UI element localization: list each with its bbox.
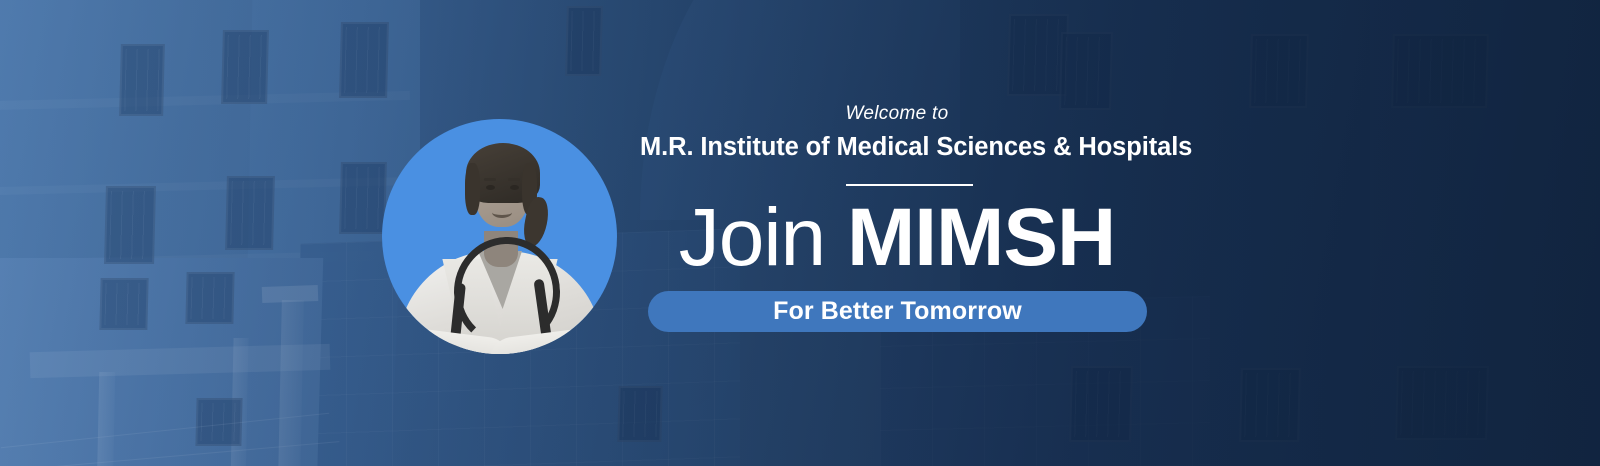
institute-name-title: M.R. Institute of Medical Sciences & Hos… bbox=[640, 133, 1154, 162]
doctor-eye-left bbox=[486, 185, 495, 190]
hero-banner: Welcome to M.R. Institute of Medical Sci… bbox=[0, 0, 1600, 466]
doctor-eye-right bbox=[510, 185, 519, 190]
headline: Join MIMSH bbox=[640, 196, 1154, 280]
banner-content: Welcome to M.R. Institute of Medical Sci… bbox=[0, 0, 1600, 466]
doctor-eyebrow-left bbox=[484, 178, 496, 181]
doctor-photo bbox=[382, 100, 617, 354]
headline-bold-part: MIMSH bbox=[847, 192, 1115, 283]
headline-light-part: Join bbox=[679, 192, 847, 283]
welcome-eyebrow-text: Welcome to bbox=[645, 103, 1149, 125]
cta-button-for-better-tomorrow[interactable]: For Better Tomorrow bbox=[648, 291, 1147, 332]
doctor-eyebrow-right bbox=[508, 178, 520, 181]
doctor-smile bbox=[492, 207, 512, 218]
title-divider-rule bbox=[846, 184, 973, 186]
doctor-hair-left bbox=[465, 163, 480, 215]
doctor-photo-clip bbox=[382, 119, 617, 354]
